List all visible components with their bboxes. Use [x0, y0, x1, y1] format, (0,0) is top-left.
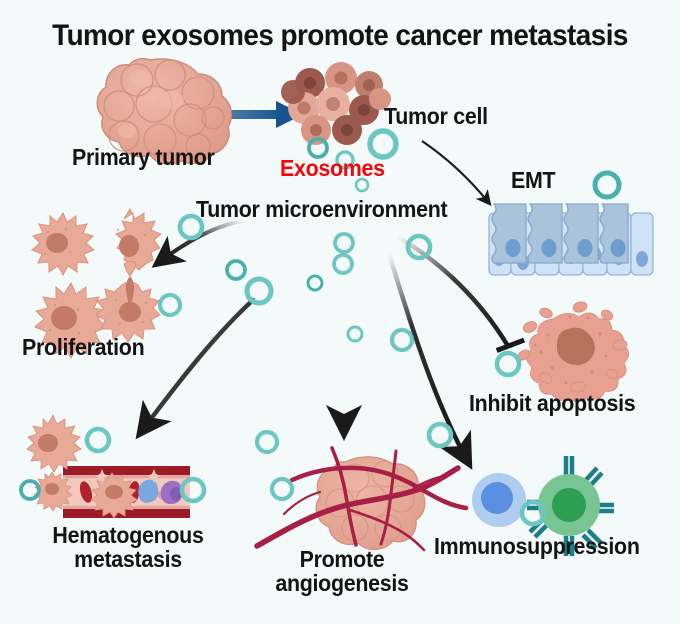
- exosome-icon: [497, 353, 519, 375]
- label-tumor-cell: Tumor cell: [384, 105, 488, 129]
- exosome-icon: [334, 255, 352, 273]
- label-hematogenous-metastasis: Hematogenous metastasis: [52, 524, 203, 572]
- label-promote-angiogenesis: Promote angiogenesis: [275, 548, 408, 596]
- label-tumor-microenvironment: Tumor microenvironment: [196, 198, 447, 222]
- apoptotic-cell: [516, 300, 629, 401]
- page-title: Tumor exosomes promote cancer metastasis: [52, 20, 628, 51]
- exosome-icon: [595, 173, 619, 197]
- exosome-icon: [160, 295, 180, 315]
- exosome-icon: [335, 234, 353, 252]
- figure-canvas: Tumor exosomes promote cancer metastasis…: [0, 0, 680, 624]
- label-inhibit-apoptosis: Inhibit apoptosis: [469, 392, 635, 416]
- exosome-icon: [257, 432, 277, 452]
- exosome-icon: [247, 279, 271, 303]
- emt-epithelium: [489, 204, 653, 275]
- exosome-icon: [348, 327, 362, 341]
- label-immunosuppression: Immunosuppression: [434, 535, 640, 559]
- arrow-to-hematogenous: [141, 300, 253, 432]
- exosome-icon: [392, 330, 412, 350]
- arrow-to-emt: [422, 141, 489, 203]
- exosome-icon: [370, 131, 396, 157]
- exosome-icon: [272, 479, 292, 499]
- label-exosomes: Exosomes: [280, 157, 385, 181]
- blood-vessel: [27, 415, 190, 518]
- exosome-icon: [87, 429, 109, 451]
- label-proliferation: Proliferation: [22, 336, 144, 360]
- label-primary-tumor: Primary tumor: [72, 146, 215, 170]
- exosome-icon: [429, 424, 451, 446]
- exosome-icon: [21, 481, 39, 499]
- exosome-icon: [308, 276, 322, 290]
- exosome-icon: [227, 261, 245, 279]
- label-emt: EMT: [511, 169, 555, 193]
